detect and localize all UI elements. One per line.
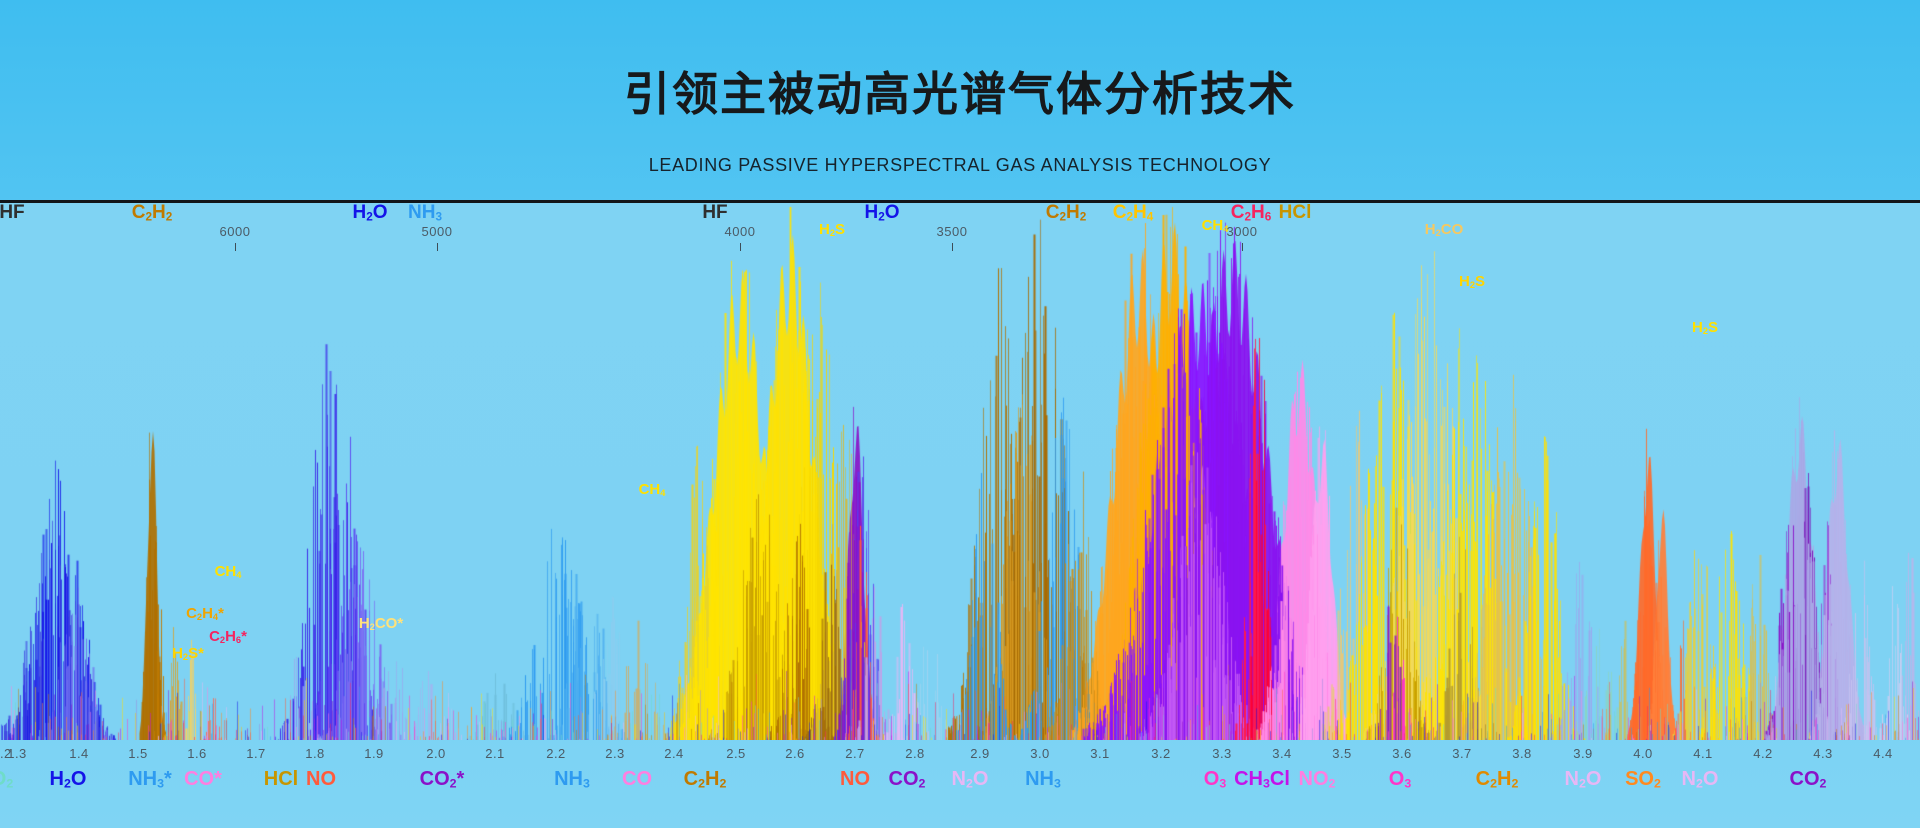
bottom-axis-gas-label: N2O xyxy=(1682,768,1719,791)
bottom-axis-tick-label: 2.0 xyxy=(426,746,446,761)
inplot-gas-annotation: CH4 xyxy=(639,481,666,498)
inplot-gas-annotation: H2CO* xyxy=(359,615,403,632)
bottom-axis-gas-label: CO xyxy=(622,768,652,791)
inplot-gas-annotation: C2H4* xyxy=(186,605,224,622)
bottom-axis-gas-label: NO xyxy=(306,768,336,791)
bottom-axis-gas-label: C2H2 xyxy=(684,768,727,791)
bottom-axis-gas-label: NH3 xyxy=(1025,768,1061,791)
bottom-axis-tick-label: 3.7 xyxy=(1452,746,1472,761)
bottom-axis-tick-label: 2.5 xyxy=(726,746,746,761)
bottom-axis-tick-label: 3.9 xyxy=(1573,746,1593,761)
bottom-axis-gas-label: CO* xyxy=(184,768,222,791)
bottom-axis-tick-label: 3.8 xyxy=(1512,746,1532,761)
bottom-axis-gas-label: N2O xyxy=(952,768,989,791)
bottom-axis-tick-label: 2.3 xyxy=(605,746,625,761)
bottom-wavelength-axis: 1.21.31.41.51.61.71.81.92.02.12.22.32.42… xyxy=(0,740,1920,828)
inplot-gas-annotation: CH4 xyxy=(1202,217,1229,234)
bottom-axis-gas-label: H2O xyxy=(50,768,87,791)
bottom-axis-tick-label: 1.4 xyxy=(69,746,89,761)
bottom-axis-tick-label: 3.3 xyxy=(1212,746,1232,761)
bottom-axis-tick-label: 1.7 xyxy=(246,746,266,761)
bottom-axis-tick-label: 2.7 xyxy=(845,746,865,761)
bottom-axis-gas-label: O3 xyxy=(1389,768,1411,791)
page-header: 引领主被动高光谱气体分析技术 LEADING PASSIVE HYPERSPEC… xyxy=(0,0,1920,200)
bottom-axis-tick-label: 2.6 xyxy=(785,746,805,761)
bottom-axis-gas-label: O3 xyxy=(1204,768,1226,791)
inplot-gas-annotation: H2S xyxy=(819,221,845,238)
page-subtitle: LEADING PASSIVE HYPERSPECTRAL GAS ANALYS… xyxy=(0,155,1920,176)
inplot-gas-annotation: H2S xyxy=(1459,273,1485,290)
bottom-axis-tick-label: 1.6 xyxy=(187,746,207,761)
bottom-axis-gas-label: CH3Cl xyxy=(1234,768,1290,791)
bottom-axis-tick-label: 2.4 xyxy=(664,746,684,761)
bottom-axis-gas-label: SO2 xyxy=(1625,768,1661,791)
bottom-axis-gas-label: NH3* xyxy=(128,768,172,791)
inplot-gas-annotation: C2H6* xyxy=(209,628,247,645)
bottom-axis-tick-label: 3.0 xyxy=(1030,746,1050,761)
bottom-axis-gas-label: O2 xyxy=(0,768,13,791)
spectra-canvas xyxy=(0,203,1920,740)
bottom-axis-tick-label: 4.0 xyxy=(1633,746,1653,761)
bottom-axis-tick-label: 1.3 xyxy=(7,746,27,761)
inplot-gas-annotation: H2S xyxy=(1692,319,1718,336)
bottom-axis-tick-label: 3.6 xyxy=(1392,746,1412,761)
bottom-axis-gas-label: NO xyxy=(840,768,870,791)
bottom-axis-gas-label: CO2* xyxy=(420,768,465,791)
bottom-axis-tick-label: 3.5 xyxy=(1332,746,1352,761)
inplot-gas-annotation: CH4 xyxy=(215,563,242,580)
bottom-axis-gas-label: NO2 xyxy=(1299,768,1336,791)
bottom-axis-gas-label: HCl xyxy=(264,768,298,791)
bottom-axis-tick-label: 2.2 xyxy=(546,746,566,761)
bottom-axis-tick-label: 4.1 xyxy=(1693,746,1713,761)
bottom-axis-tick-label: 3.1 xyxy=(1090,746,1110,761)
bottom-axis-tick-label: 2.9 xyxy=(970,746,990,761)
bottom-axis-tick-label: 1.5 xyxy=(128,746,148,761)
bottom-axis-gas-label: NH3 xyxy=(554,768,590,791)
bottom-axis-gas-label: N2O xyxy=(1565,768,1602,791)
bottom-axis-gas-label: C2H2 xyxy=(1476,768,1519,791)
bottom-axis-tick-label: 4.2 xyxy=(1753,746,1773,761)
bottom-axis-tick-label: 4.4 xyxy=(1873,746,1893,761)
bottom-axis-gas-label: CO2 xyxy=(889,768,926,791)
bottom-axis-tick-label: 2.8 xyxy=(905,746,925,761)
bottom-axis-tick-label: 1.8 xyxy=(305,746,325,761)
bottom-axis-tick-label: 4.3 xyxy=(1813,746,1833,761)
spectrum-plot: H2SCH4H2COH2SH2SCH4CH4C2H4*C2H6*H2S*H2CO… xyxy=(0,200,1920,740)
bottom-axis-tick-label: 3.2 xyxy=(1151,746,1171,761)
bottom-axis-gas-label: CO2 xyxy=(1790,768,1827,791)
bottom-axis-tick-label: 3.4 xyxy=(1272,746,1292,761)
bottom-axis-tick-label: 1.9 xyxy=(364,746,384,761)
inplot-gas-annotation: H2S* xyxy=(172,645,204,662)
bottom-axis-tick-label: 2.1 xyxy=(485,746,505,761)
inplot-gas-annotation: H2CO xyxy=(1425,221,1464,238)
page-title: 引领主被动高光谱气体分析技术 xyxy=(0,58,1920,124)
